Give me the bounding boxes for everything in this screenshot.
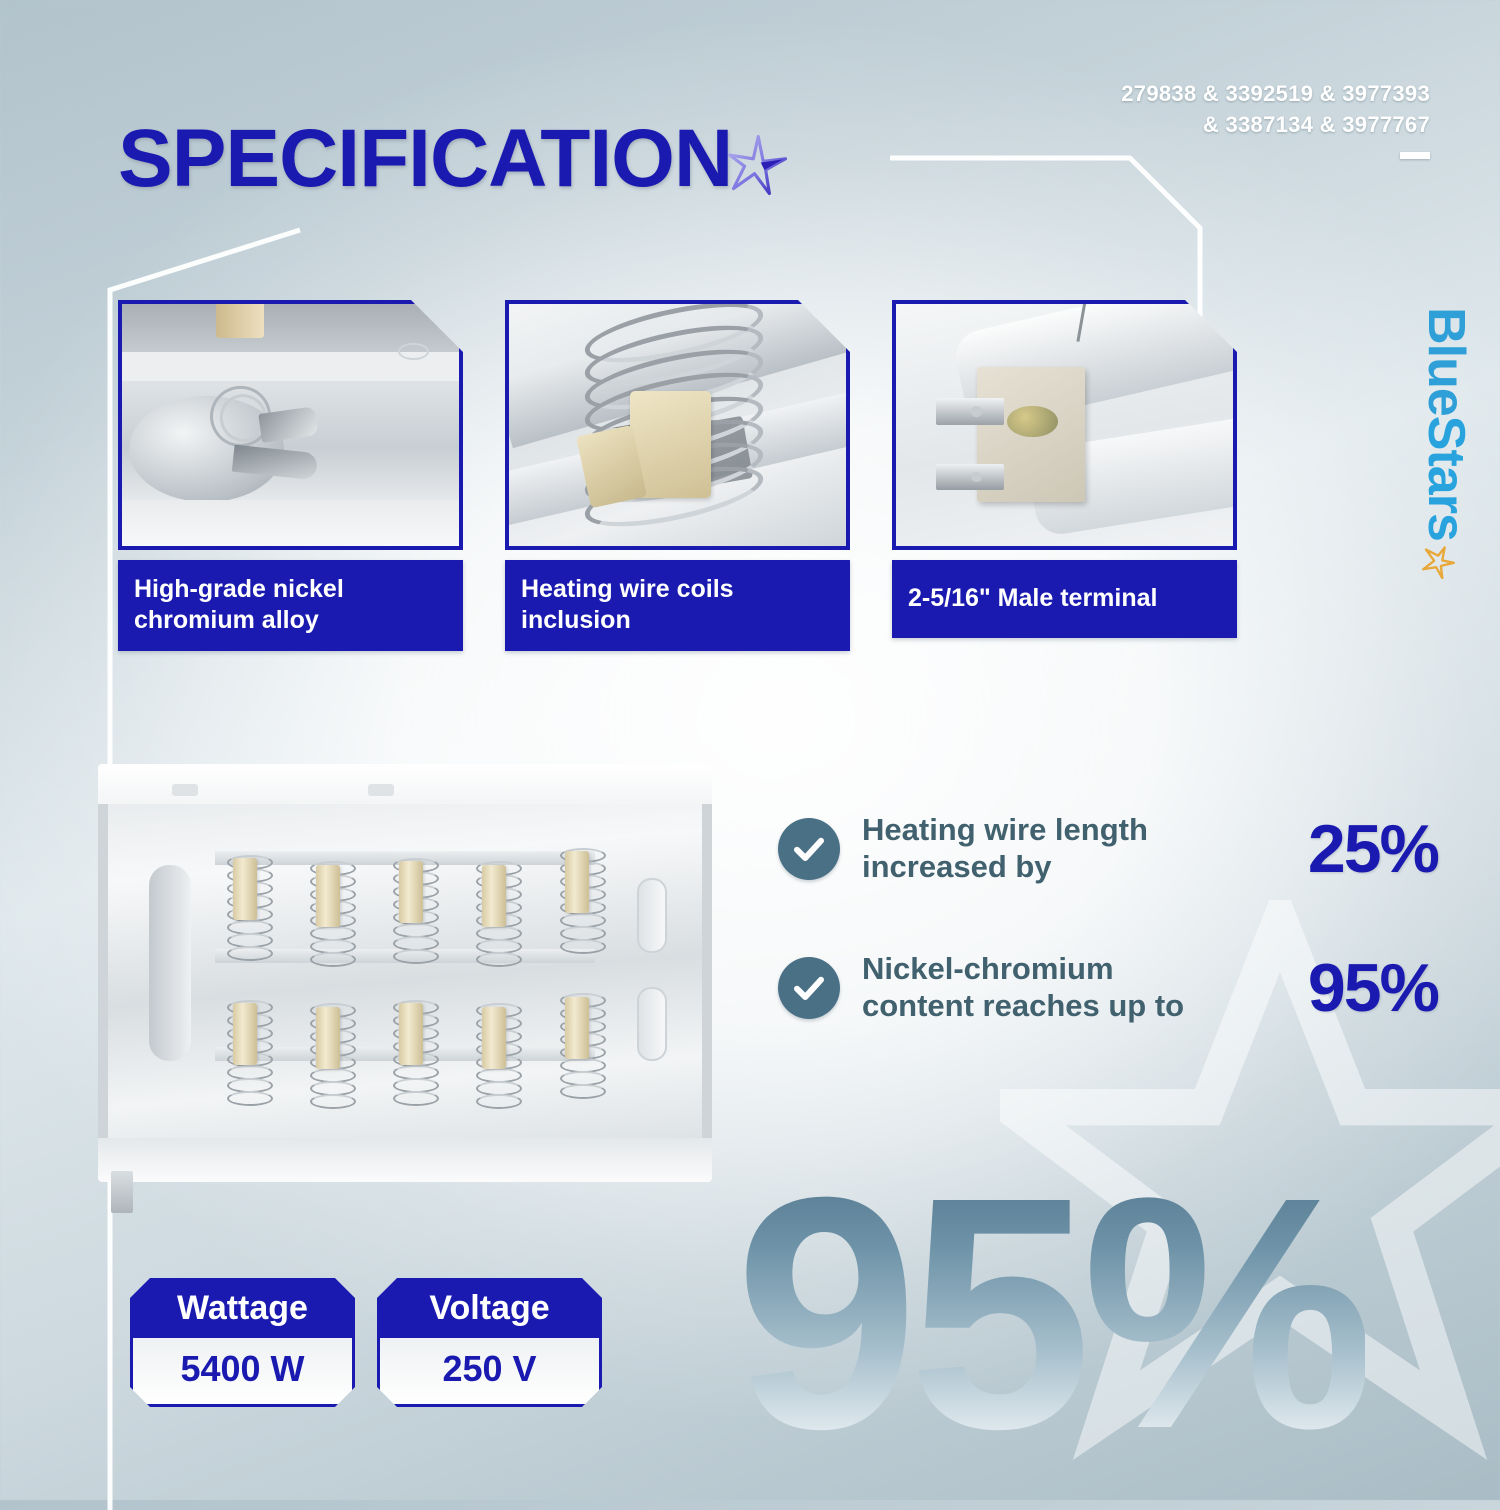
feature-card-photo <box>118 300 463 550</box>
check-circle-icon <box>778 818 840 880</box>
feature-bullet: Heating wire length increased by 25% <box>778 812 1438 885</box>
feature-bullet-percent: 25% <box>1308 815 1438 883</box>
feature-card: Heating wire coils inclusion <box>505 300 850 651</box>
title-star-icon <box>726 134 788 196</box>
product-hero-image <box>85 755 725 1200</box>
spec-badge-label: Voltage <box>380 1281 599 1338</box>
feature-card-photo <box>505 300 850 550</box>
page-title-group: SPECIFICATION <box>118 118 788 200</box>
brand-name-blue: Blue <box>1416 307 1476 416</box>
dash-accent-icon <box>1400 152 1430 159</box>
brand-star-icon <box>1422 545 1456 579</box>
page-title: SPECIFICATION <box>118 118 732 200</box>
feature-card-caption: 2-5/16" Male terminal <box>892 560 1237 638</box>
check-circle-icon <box>778 957 840 1019</box>
heating-wire-coil-photo <box>509 304 846 546</box>
brand-logo-text: Blue Stars <box>1416 307 1476 579</box>
feature-card-list: High-grade nickel chromium alloy Heating… <box>118 300 1237 651</box>
part-numbers-line-1: 279838 & 3392519 & 3977393 <box>1121 78 1430 109</box>
percentage-watermark: 95% <box>735 1148 1365 1478</box>
dryer-heating-element-assembly <box>85 755 725 1200</box>
spec-badge-wattage: Wattage 5400 W <box>130 1278 355 1407</box>
brand-logo: Blue Stars <box>1410 248 1482 638</box>
spec-badge-label: Wattage <box>133 1281 352 1338</box>
spec-badge-value: 5400 W <box>133 1338 352 1404</box>
feature-bullet-text: Heating wire length increased by <box>862 812 1192 885</box>
part-numbers-line-2: & 3387134 & 3977767 <box>1121 109 1430 140</box>
feature-card: 2-5/16" Male terminal <box>892 300 1237 651</box>
feature-bullet-list: Heating wire length increased by 25% Nic… <box>778 812 1438 1090</box>
male-terminal-photo <box>896 304 1233 546</box>
feature-bullet-text: Nickel-chromium content reaches up to <box>862 951 1192 1024</box>
feature-bullet: Nickel-chromium content reaches up to 95… <box>778 951 1438 1024</box>
feature-bullet-percent: 95% <box>1308 954 1438 1022</box>
feature-card-caption: Heating wire coils inclusion <box>505 560 850 651</box>
feature-card-photo <box>892 300 1237 550</box>
part-numbers: 279838 & 3392519 & 3977393 & 3387134 & 3… <box>1121 78 1430 140</box>
spec-badge-list: Wattage 5400 W Voltage 250 V <box>130 1278 602 1407</box>
feature-card: High-grade nickel chromium alloy <box>118 300 463 651</box>
nickel-chromium-alloy-photo <box>122 304 459 546</box>
brand-name-stars: Stars <box>1416 416 1476 541</box>
feature-card-caption: High-grade nickel chromium alloy <box>118 560 463 651</box>
spec-badge-voltage: Voltage 250 V <box>377 1278 602 1407</box>
spec-badge-value: 250 V <box>380 1338 599 1404</box>
